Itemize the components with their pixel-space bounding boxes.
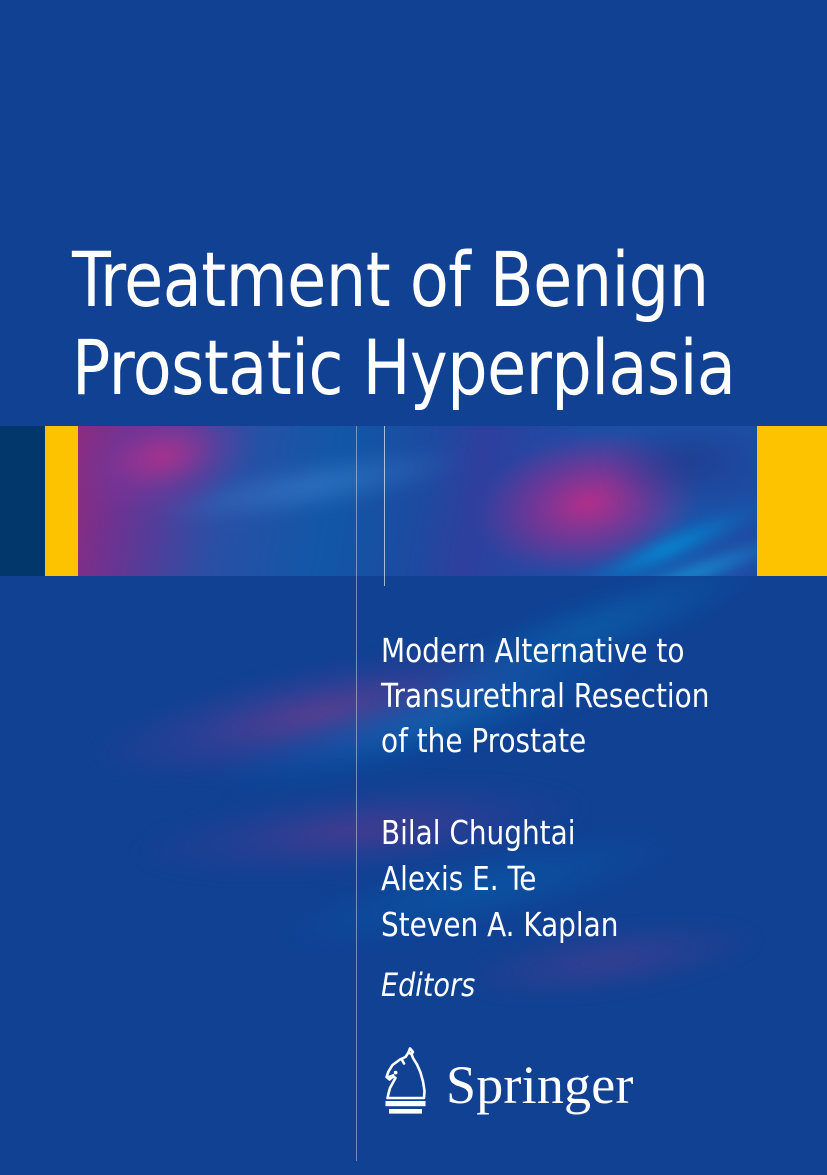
title-line-1: Treatment of Benign [72,236,742,324]
subtitle-line-1: Modern Alternative to [381,628,776,673]
editor-name-1: Bilal Chughtai [381,810,776,856]
subtitle-line-3: of the Prostate [381,718,776,763]
title-line-2: Prostatic Hyperplasia [72,324,742,412]
decorative-band [0,426,827,576]
editor-list: Bilal Chughtai Alexis E. Te Steven A. Ka… [381,810,801,1008]
subtitle-line-2: Transurethral Resection [381,673,776,718]
navy-block [0,426,45,576]
book-title: Treatment of Benign Prostatic Hyperplasi… [72,236,792,412]
yellow-bar [45,426,78,576]
editor-name-3: Steven A. Kaplan [381,902,776,948]
book-subtitle: Modern Alternative to Transurethral Rese… [381,628,801,763]
editors-role-label: Editors [381,962,776,1008]
yellow-block [757,426,827,576]
book-cover: Treatment of Benign Prostatic Hyperplasi… [0,0,827,1175]
springer-knight-icon [378,1046,436,1118]
publisher-name: Springer [446,1058,634,1112]
band-abstract-artwork [78,426,757,576]
publisher-logo: Springer [378,1046,634,1118]
editor-name-2: Alexis E. Te [381,856,776,902]
